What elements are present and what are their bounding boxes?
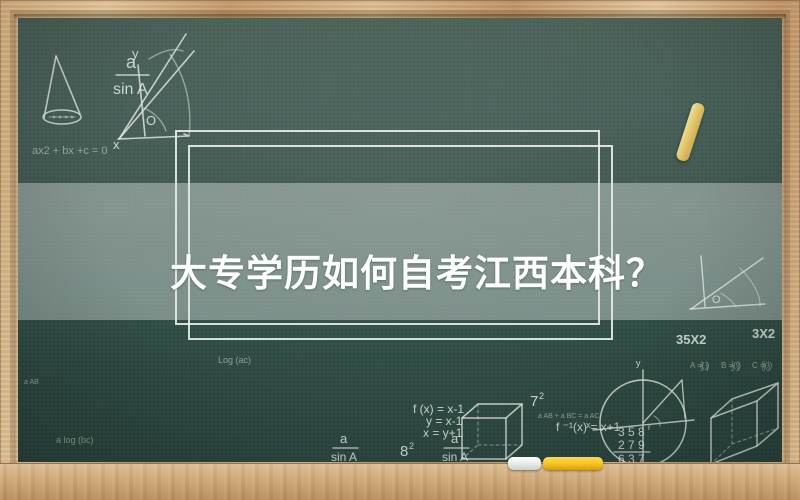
multiply-label-2: 3X2 xyxy=(752,326,775,341)
chalkboard-surface: a sin A y x O ax2 + xyxy=(18,18,782,462)
small-note-left: a AB xyxy=(24,379,39,386)
svg-text:a: a xyxy=(340,431,348,446)
chalkboard-banner: a sin A y x O ax2 + xyxy=(0,0,800,500)
svg-text:2 3: 2 3 xyxy=(731,367,740,373)
quadratic-equation: ax2 + bx +c = 0 xyxy=(32,145,108,157)
ledge-wood-grain xyxy=(0,464,800,500)
svg-text:2 7 9: 2 7 9 xyxy=(618,438,645,452)
yellow-chalk-on-board xyxy=(675,101,706,162)
svg-text:2: 2 xyxy=(409,441,414,451)
chalk-ledge xyxy=(0,463,800,500)
power-7: 7 2 xyxy=(530,391,544,410)
svg-text:y = x-1: y = x-1 xyxy=(426,414,463,428)
svg-text:8: 8 xyxy=(400,443,408,460)
matrices-row: A =( ) B =( ) C =( ) 2 1 3 4 1 0 2 3 5 1… xyxy=(690,361,773,373)
svg-text:x: x xyxy=(113,137,120,152)
svg-text:O: O xyxy=(146,113,156,128)
page-title: 大专学历如何自考江西本科？ xyxy=(170,243,730,297)
svg-text:y: y xyxy=(132,46,139,61)
cone-drawing xyxy=(43,56,81,124)
svg-text:sin A: sin A xyxy=(331,450,357,462)
function-lines: f (x) = x-1 y = x-1 x = y+1 xyxy=(413,402,464,440)
svg-text:2: 2 xyxy=(539,391,544,401)
log-label-2: a log (bc) xyxy=(56,435,94,445)
sine-rule-fraction: a sin A xyxy=(113,52,149,98)
svg-text:a: a xyxy=(451,431,459,446)
cube-drawing-right xyxy=(711,383,778,462)
svg-text:A =( ): A =( ) xyxy=(690,361,710,370)
svg-text:sin A: sin A xyxy=(113,81,148,98)
sine-rule-fraction-center: a sin A xyxy=(442,431,469,462)
inverse-function: f ⁻¹(x) = x+1 xyxy=(556,420,621,434)
svg-text:a: a xyxy=(126,52,137,72)
svg-text:x: x xyxy=(586,420,591,430)
power-8: 8 2 xyxy=(400,441,414,460)
svg-text:B =( ): B =( ) xyxy=(721,361,741,370)
svg-text:sin A: sin A xyxy=(442,450,468,462)
svg-text:6 3 7: 6 3 7 xyxy=(618,452,645,462)
svg-text:5 1: 5 1 xyxy=(762,362,771,368)
vector-expression: a AB + a BC = a AC xyxy=(538,413,599,420)
svg-text:f (x) = x-1: f (x) = x-1 xyxy=(413,402,464,416)
svg-text:r: r xyxy=(648,423,651,432)
yellow-chalk-on-ledge xyxy=(543,457,603,470)
sine-rule-fraction-left: a sin A xyxy=(331,431,358,462)
multiply-label-1: 35X2 xyxy=(676,332,706,347)
svg-text:0 2: 0 2 xyxy=(762,367,771,373)
svg-text:3 5 8: 3 5 8 xyxy=(618,425,645,439)
unit-circle-diagram: y x r xyxy=(586,358,694,462)
svg-text:y: y xyxy=(636,358,641,368)
white-chalk-on-ledge xyxy=(508,457,541,470)
svg-text:1 0: 1 0 xyxy=(731,362,740,368)
log-label-1: Log (ac) xyxy=(218,355,251,365)
svg-text:3 4: 3 4 xyxy=(700,367,709,373)
svg-text:2 1: 2 1 xyxy=(700,362,709,368)
cube-drawing-center xyxy=(462,404,522,459)
svg-text:C =( ): C =( ) xyxy=(752,361,773,370)
svg-text:x = y+1: x = y+1 xyxy=(423,426,463,440)
subtraction-column: 3 5 8 2 7 9 6 3 7 xyxy=(614,425,650,462)
svg-text:7: 7 xyxy=(530,393,538,410)
